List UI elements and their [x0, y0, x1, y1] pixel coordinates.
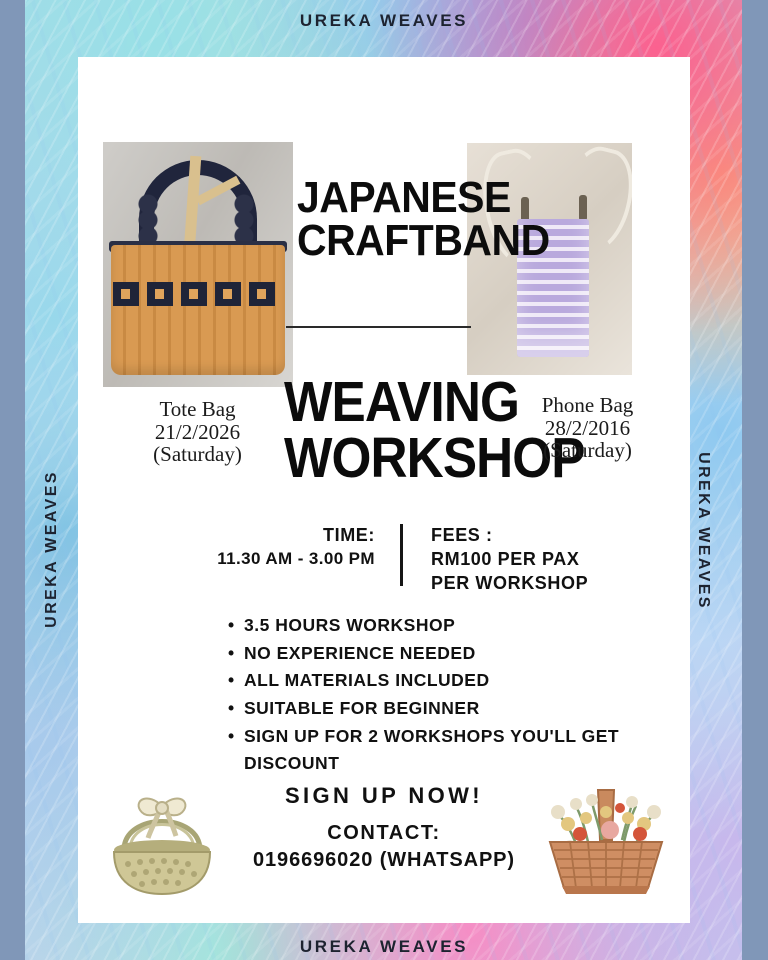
caption-phone-day: (Saturday): [505, 439, 670, 462]
tote-chain-pattern-shape: [113, 282, 283, 306]
phone-clip-right-shape: [579, 195, 587, 221]
list-item: SUITABLE FOR BEGINNER: [228, 695, 698, 723]
banner-bottom-brand: UREKA WEAVES: [0, 937, 768, 957]
fees-block: FEES : RM100 PER PAX PER WORKSHOP: [403, 524, 588, 596]
banner-top-brand: UREKA WEAVES: [0, 11, 768, 31]
right-edge-strip: [742, 0, 768, 960]
left-edge-strip: [0, 0, 25, 960]
title-divider-rule: [286, 326, 471, 328]
time-label: TIME:: [120, 524, 375, 548]
list-item: ALL MATERIALS INCLUDED: [228, 667, 698, 695]
poster: UREKA WEAVES UREKA WEAVES UREKA WEAVES U…: [0, 0, 768, 960]
features-ul: 3.5 HOURS WORKSHOP NO EXPERIENCE NEEDED …: [228, 612, 698, 778]
title-line-japanese: JAPANESE: [297, 176, 539, 219]
fees-label: FEES :: [431, 524, 588, 548]
side-brand-left: UREKA WEAVES: [43, 454, 61, 644]
list-item: 3.5 HOURS WORKSHOP: [228, 612, 698, 640]
features-list: 3.5 HOURS WORKSHOP NO EXPERIENCE NEEDED …: [228, 612, 698, 778]
title-craftband: JAPANESE CRAFTBAND: [297, 176, 539, 262]
title-line-craftband: CRAFTBAND: [297, 219, 539, 262]
flower-basket-icon: [536, 778, 676, 900]
tote-bag-photo: [103, 142, 293, 387]
tote-knot-left-shape: [135, 194, 161, 244]
time-fees-block: TIME: 11.30 AM - 3.00 PM FEES : RM100 PE…: [120, 524, 640, 596]
caption-tote-name: Tote Bag: [100, 398, 295, 421]
time-block: TIME: 11.30 AM - 3.00 PM: [120, 524, 400, 571]
list-item: SIGN UP FOR 2 WORKSHOPS YOU'LL GET DISCO…: [228, 723, 698, 778]
time-value: 11.30 AM - 3.00 PM: [120, 548, 375, 571]
caption-phone-bag: Phone Bag 28/2/2016 (Saturday): [505, 394, 670, 462]
caption-phone-name: Phone Bag: [505, 394, 670, 417]
fees-line-1: RM100 PER PAX: [431, 548, 588, 572]
side-brand-right: UREKA WEAVES: [694, 436, 712, 626]
fees-line-2: PER WORKSHOP: [431, 572, 588, 596]
caption-phone-date: 28/2/2016: [505, 417, 670, 440]
caption-tote-bag: Tote Bag 21/2/2026 (Saturday): [100, 398, 295, 466]
wicker-basket-icon: [100, 776, 224, 900]
list-item: NO EXPERIENCE NEEDED: [228, 640, 698, 668]
tote-body-shape: [111, 245, 285, 375]
caption-tote-day: (Saturday): [100, 443, 295, 466]
tote-knot-right-shape: [231, 194, 257, 244]
caption-tote-date: 21/2/2026: [100, 421, 295, 444]
